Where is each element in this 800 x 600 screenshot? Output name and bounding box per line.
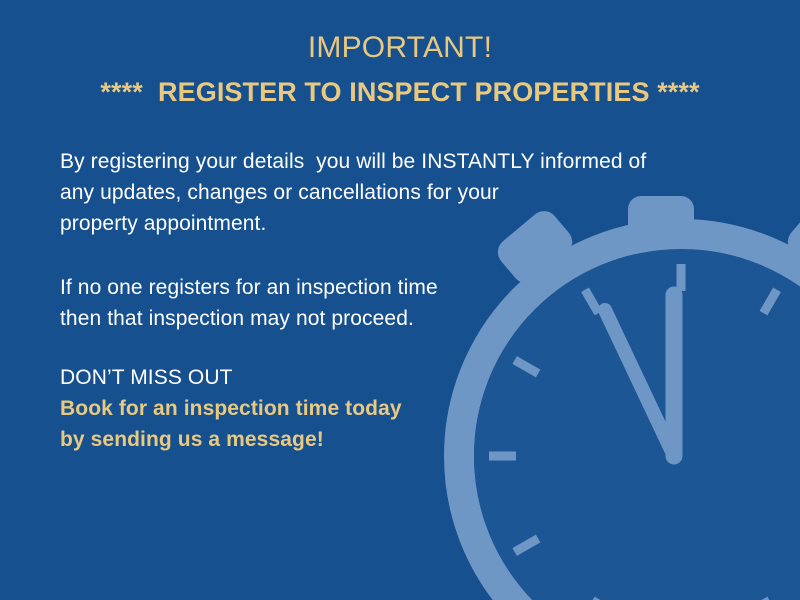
promotional-slide: IMPORTANT! **** REGISTER TO INSPECT PROP… xyxy=(0,0,800,600)
paragraph2-line2: then that inspection may not proceed. xyxy=(60,303,438,334)
paragraph-registering-details: By registering your details you will be … xyxy=(60,146,646,239)
slide-heading: IMPORTANT! **** REGISTER TO INSPECT PROP… xyxy=(0,28,800,112)
paragraph1-line3: property appointment. xyxy=(60,208,646,239)
paragraph2-line1: If no one registers for an inspection ti… xyxy=(60,272,438,303)
slide-content: IMPORTANT! **** REGISTER TO INSPECT PROP… xyxy=(0,0,800,600)
paragraph-call-to-action: DON’T MISS OUT Book for an inspection ti… xyxy=(60,362,402,455)
heading-important: IMPORTANT! xyxy=(0,28,800,68)
cta-dont-miss-out: DON’T MISS OUT xyxy=(60,362,402,393)
paragraph1-line1: By registering your details you will be … xyxy=(60,146,646,177)
heading-register-to-inspect: **** REGISTER TO INSPECT PROPERTIES **** xyxy=(0,72,800,112)
paragraph1-line2: any updates, changes or cancellations fo… xyxy=(60,177,646,208)
cta-book-inspection: Book for an inspection time today xyxy=(60,393,402,424)
cta-send-message: by sending us a message! xyxy=(60,424,402,455)
paragraph-no-registration-warning: If no one registers for an inspection ti… xyxy=(60,272,438,334)
